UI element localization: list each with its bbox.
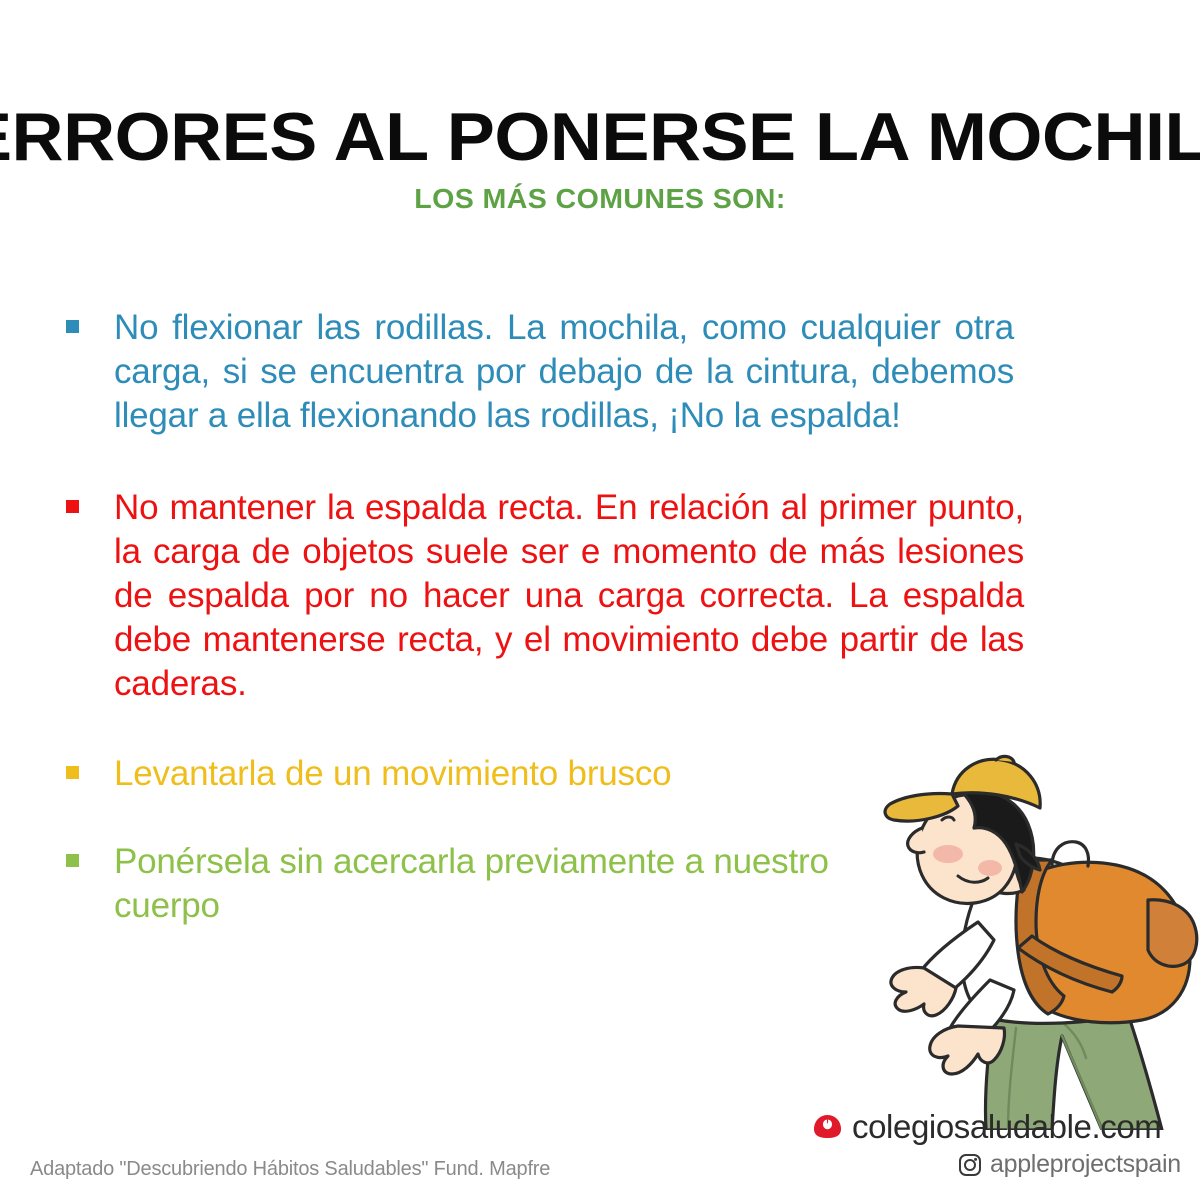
brand-website-label[interactable]: colegiosaludable.com [852,1110,1161,1143]
list-item-text: No mantener la espalda recta. En relació… [114,486,1024,706]
list-item: No mantener la espalda recta. En relació… [62,486,1022,706]
source-attribution: Adaptado "Descubriendo Hábitos Saludable… [30,1157,550,1181]
page-title: ERRORES AL PONERSE LA MOCHILA [0,98,1200,176]
list-item-text: Ponérsela sin acercarla previamente a nu… [114,840,854,928]
social-line[interactable]: appleprojectspain [958,1152,1181,1177]
square-bullet-icon [66,766,79,779]
boy-with-backpack-illustration [866,752,1200,1130]
list-item-text: Levantarla de un movimiento brusco [114,752,874,796]
list-item: No flexionar las rodillas. La mochila, c… [62,306,1022,438]
colegiosaludable-apple-icon [812,1111,843,1142]
list-item-text: No flexionar las rodillas. La mochila, c… [114,306,1014,438]
square-bullet-icon [66,320,79,333]
brand-line[interactable]: colegiosaludable.com [812,1110,1161,1143]
square-bullet-icon [66,854,79,867]
poster-root: ERRORES AL PONERSE LA MOCHILA LOS MÁS CO… [0,0,1200,1200]
instagram-icon [958,1153,982,1177]
page-subtitle: LOS MÁS COMUNES SON: [0,182,1200,216]
social-handle-label[interactable]: appleprojectspain [990,1152,1181,1177]
square-bullet-icon [66,500,79,513]
